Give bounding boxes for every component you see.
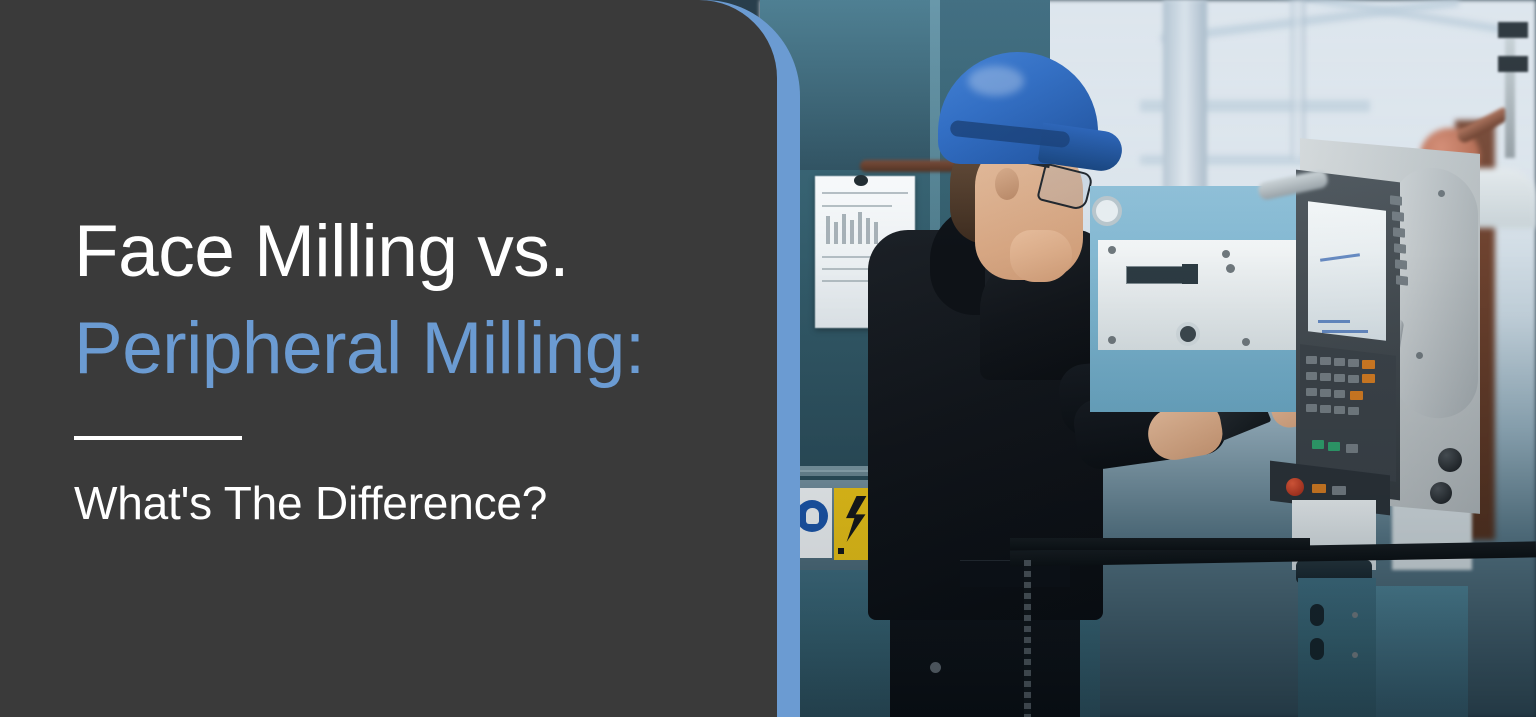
page-title-line-1: Face Milling vs. — [74, 215, 569, 288]
page-title-line-2: Peripheral Milling: — [74, 312, 645, 385]
title-divider — [74, 436, 242, 440]
blog-header-banner: Face Milling vs. Peripheral Milling: Wha… — [0, 0, 1536, 717]
page-subtitle: What's The Difference? — [74, 478, 547, 529]
